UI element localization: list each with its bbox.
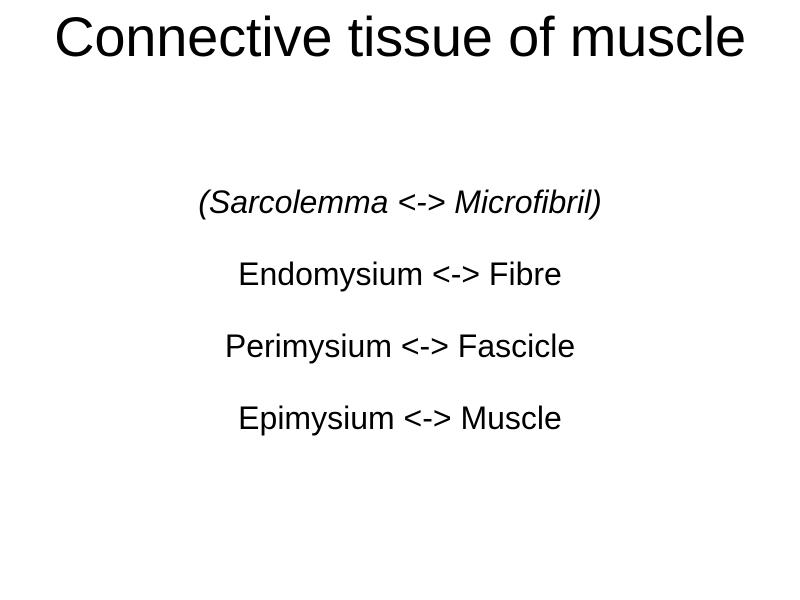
page-title: Connective tissue of muscle	[50, 6, 750, 68]
slide-body-text-block: (Sarcolemma <-> Microfibril) Endomysium …	[40, 182, 760, 438]
body-line-epimysium: Epimysium <-> Muscle	[40, 398, 760, 438]
body-line-sarcolemma: (Sarcolemma <-> Microfibril)	[40, 182, 760, 254]
presentation-slide: Connective tissue of muscle (Sarcolemma …	[0, 0, 800, 600]
body-line-perimysium: Perimysium <-> Fascicle	[40, 326, 760, 398]
body-line-endomysium: Endomysium <-> Fibre	[40, 254, 760, 326]
